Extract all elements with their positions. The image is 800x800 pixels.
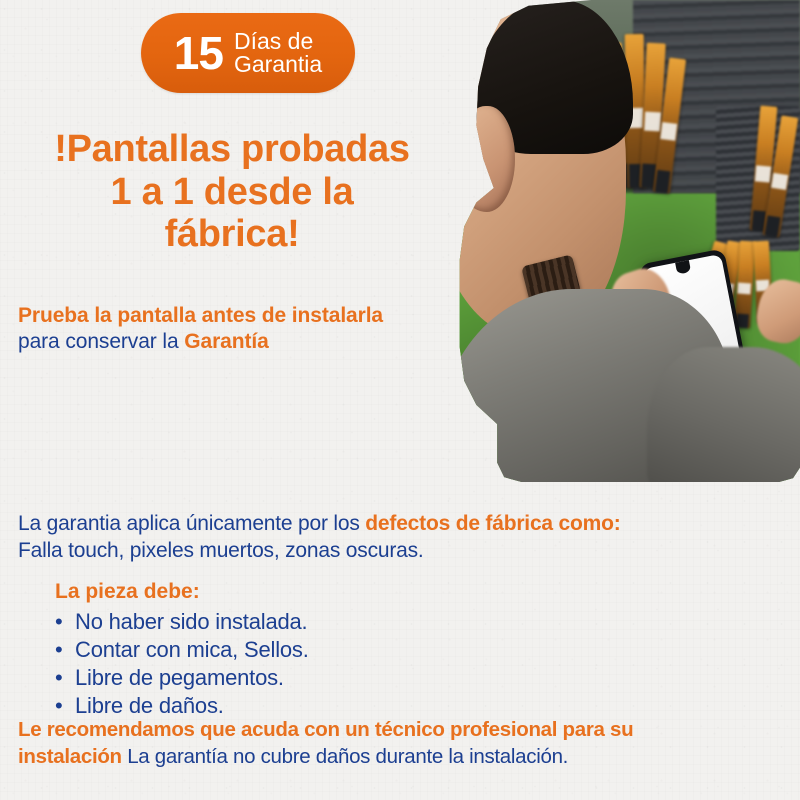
subheading-line-1: Prueba la pantalla antes de instalarla: [18, 303, 458, 329]
headline-line-2: 1 a 1 desde la: [12, 171, 452, 214]
subheading-line-2-emphasis: Garantía: [184, 330, 268, 353]
warranty-note-plain: La garantia aplica únicamente por los: [18, 512, 365, 535]
badge-number: 15: [174, 30, 223, 76]
recommendation-plain: La garantía no cubre daños durante la in…: [122, 745, 568, 768]
warranty-note-line-2: Falla touch, pixeles muertos, zonas oscu…: [18, 537, 790, 564]
warranty-note-emphasis: defectos de fábrica como:: [365, 512, 620, 535]
warranty-days-badge: 15 Días de Garantia: [141, 13, 355, 93]
recommendation-bold-line-1: Le recomendamos que acuda con un técnico…: [18, 718, 633, 741]
workshop-photo: [452, 0, 800, 482]
warranty-note-line-1: La garantia aplica únicamente por los de…: [18, 510, 790, 537]
page-title: !Pantallas probadas 1 a 1 desde la fábri…: [12, 128, 452, 256]
list-item: Contar con mica, Sellos.: [55, 636, 309, 664]
badge-line-2: Garantia: [234, 53, 322, 76]
subheading-line-2-plain: para conservar la: [18, 330, 184, 353]
badge-text: Días de Garantia: [234, 30, 322, 77]
conditions-list: No haber sido instalada. Contar con mica…: [55, 608, 309, 721]
list-item: No haber sido instalada.: [55, 608, 309, 636]
conditions-title: La pieza debe:: [55, 580, 200, 604]
headline-line-1: !Pantallas probadas: [12, 128, 452, 171]
promo-poster: 15 Días de Garantia !Pantallas probadas …: [0, 0, 800, 800]
technician-sleeve-secondary: [647, 347, 800, 482]
subheading: Prueba la pantalla antes de instalarla p…: [18, 303, 458, 356]
recommendation-bold-line-2: instalación: [18, 745, 122, 768]
photo-clip-shape: [452, 0, 800, 482]
headline-line-3: fábrica!: [12, 213, 452, 256]
subheading-line-2: para conservar la Garantía: [18, 329, 458, 355]
technician-ear: [455, 106, 514, 212]
warranty-scope-note: La garantia aplica únicamente por los de…: [18, 510, 790, 565]
badge-line-1: Días de: [234, 30, 322, 53]
installation-recommendation: Le recomendamos que acuda con un técnico…: [18, 716, 790, 770]
list-item: Libre de pegamentos.: [55, 664, 309, 692]
